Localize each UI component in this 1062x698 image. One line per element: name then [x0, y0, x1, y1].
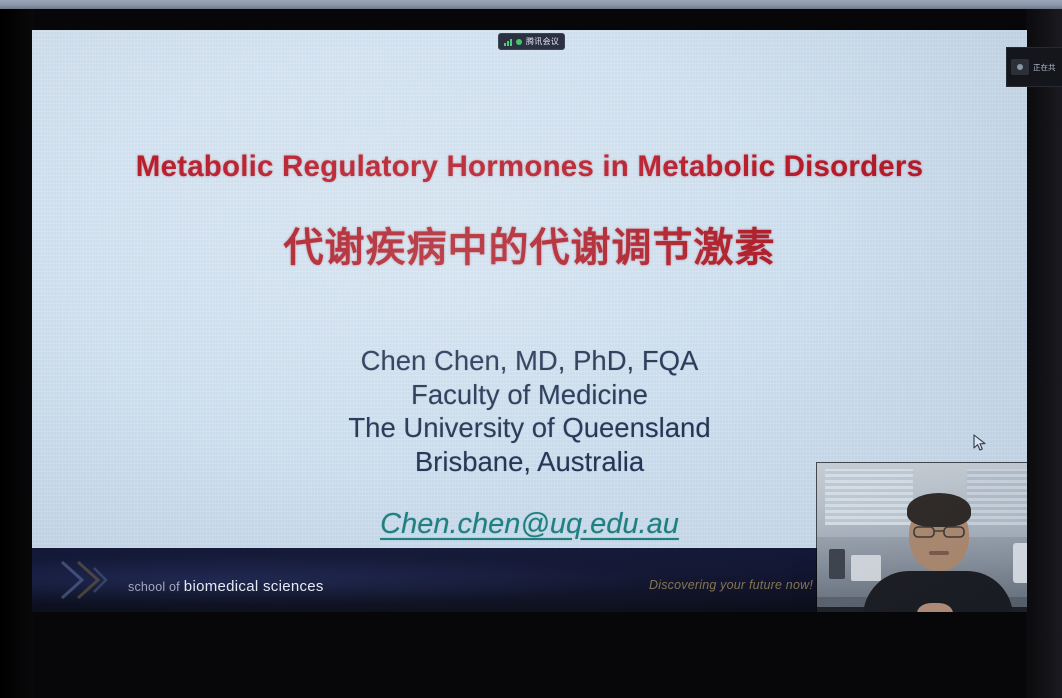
presenter-faculty: Faculty of Medicine	[32, 378, 1027, 412]
pip-object-1	[829, 549, 845, 579]
bezel-left-edge	[0, 9, 34, 698]
bezel-right-edge	[1026, 9, 1062, 698]
meeting-status-pill[interactable]: 腾讯会议	[498, 33, 565, 50]
pip-person-mouth	[929, 551, 949, 555]
screen-share-icon	[1011, 59, 1029, 75]
presenter-university: The University of Queensland	[32, 411, 1027, 445]
slide-title-english: Metabolic Regulatory Hormones in Metabol…	[32, 150, 1027, 184]
pip-object-3	[1013, 543, 1027, 583]
pip-person-hair	[907, 493, 971, 527]
monitor-top-strip	[0, 0, 1062, 9]
footer-tagline: Discovering your future now!	[649, 578, 813, 592]
pip-window-left	[825, 469, 913, 525]
school-name: biomedical sciences	[184, 578, 324, 595]
presenter-affiliation-block: Chen Chen, MD, PhD, FQA Faculty of Medic…	[32, 344, 1027, 478]
screen-share-indicator[interactable]: 正在共	[1006, 47, 1062, 87]
school-prefix: school of	[128, 580, 180, 594]
mouse-pointer-icon	[973, 434, 987, 452]
screen-capture-root: Metabolic Regulatory Hormones in Metabol…	[0, 0, 1062, 698]
share-status-label: 正在共	[1033, 62, 1056, 73]
green-status-dot-icon	[516, 39, 522, 45]
pip-person-glasses-icon	[913, 525, 965, 538]
pip-person-hand	[917, 603, 953, 612]
school-wordmark: school of biomedical sciences	[128, 578, 324, 595]
slide-title-chinese: 代谢疾病中的代谢调节激素	[32, 215, 1027, 273]
presenter-webcam-pip[interactable]	[817, 463, 1027, 612]
signal-bars-icon	[504, 38, 512, 46]
pip-object-2	[851, 555, 881, 581]
presentation-slide: Metabolic Regulatory Hormones in Metabol…	[32, 30, 1027, 612]
presenter-name: Chen Chen, MD, PhD, FQA	[32, 344, 1027, 378]
chevron-logo-icon	[58, 559, 114, 601]
pip-window-right	[967, 469, 1027, 525]
meeting-app-label: 腾讯会议	[526, 36, 559, 47]
